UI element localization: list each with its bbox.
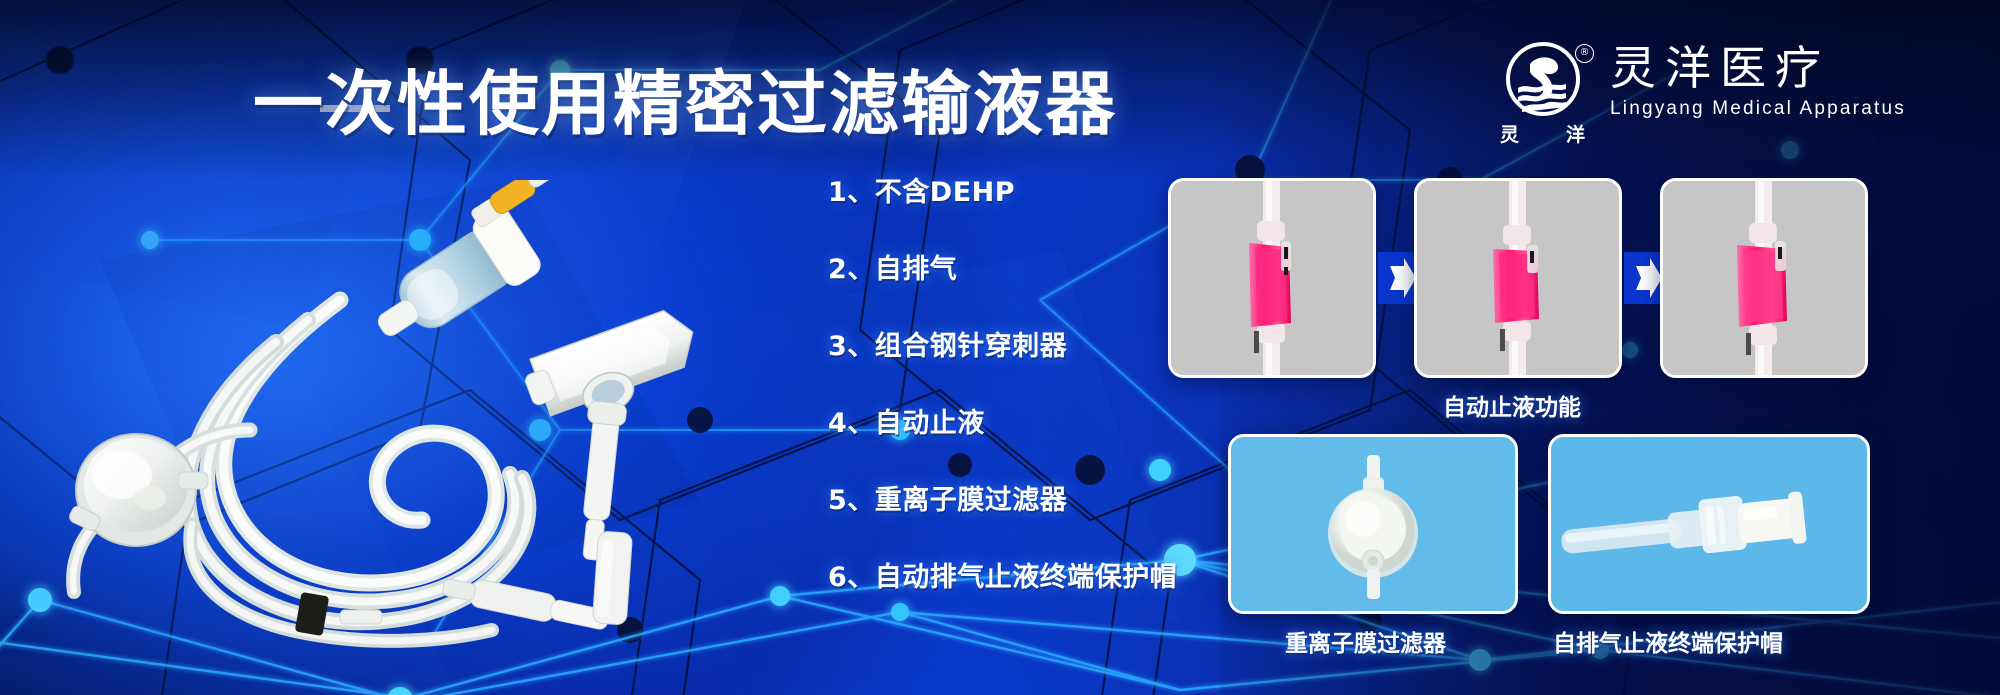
brand-name-cn: 灵洋医疗 — [1610, 44, 1906, 92]
brand-name-en: Lingyang Medical Apparatus — [1610, 98, 1906, 120]
logo-mark-characters: 灵 洋 — [1500, 120, 1586, 147]
photo-panel-auto-stop-1 — [1168, 178, 1376, 378]
registered-trademark-icon: ® — [1575, 44, 1594, 63]
photo-panel-protective-cap — [1548, 434, 1870, 614]
photo-panel-heavy-ion-filter — [1228, 434, 1518, 614]
drip-chamber-part — [353, 180, 602, 361]
caption-auto-stop-function: 自动止液功能 — [1443, 388, 1581, 422]
brand-name-block: 灵洋医疗 Lingyang Medical Apparatus — [1610, 40, 1906, 120]
product-banner: 一次性使用精密过滤输液器 ® 灵 洋 灵洋医疗 Lingyang Medical… — [0, 0, 2000, 695]
brand-logo: ® 灵 洋 灵洋医疗 Lingyang Medical Apparatus — [1500, 40, 1906, 140]
feature-item-4: 4、自动止液 — [828, 401, 1177, 440]
logo-emblem-icon: ® 灵 洋 — [1500, 40, 1592, 140]
photo-panel-auto-stop-2 — [1414, 178, 1622, 378]
page-title: 一次性使用精密过滤输液器 — [253, 48, 1117, 149]
feature-item-3: 3、组合钢针穿刺器 — [828, 324, 1177, 363]
feature-item-6: 6、自动排气止液终端保护帽 — [828, 555, 1177, 594]
feature-list: 1、不含DEHP 2、自排气 3、组合钢针穿刺器 4、自动止液 5、重离子膜过滤… — [828, 170, 1177, 594]
caption-heavy-ion-filter: 重离子膜过滤器 — [1285, 624, 1446, 658]
feature-item-1: 1、不含DEHP — [828, 170, 1177, 209]
feature-item-5: 5、重离子膜过滤器 — [828, 478, 1177, 517]
photo-panel-auto-stop-3 — [1660, 178, 1868, 378]
caption-protective-cap: 自排气止液终端保护帽 — [1553, 624, 1783, 658]
needle-guard-part — [592, 531, 632, 625]
logo-char-right: 洋 — [1566, 120, 1586, 147]
logo-char-left: 灵 — [1500, 120, 1520, 147]
product-photo — [40, 180, 800, 650]
feature-item-2: 2、自排气 — [828, 247, 1177, 286]
